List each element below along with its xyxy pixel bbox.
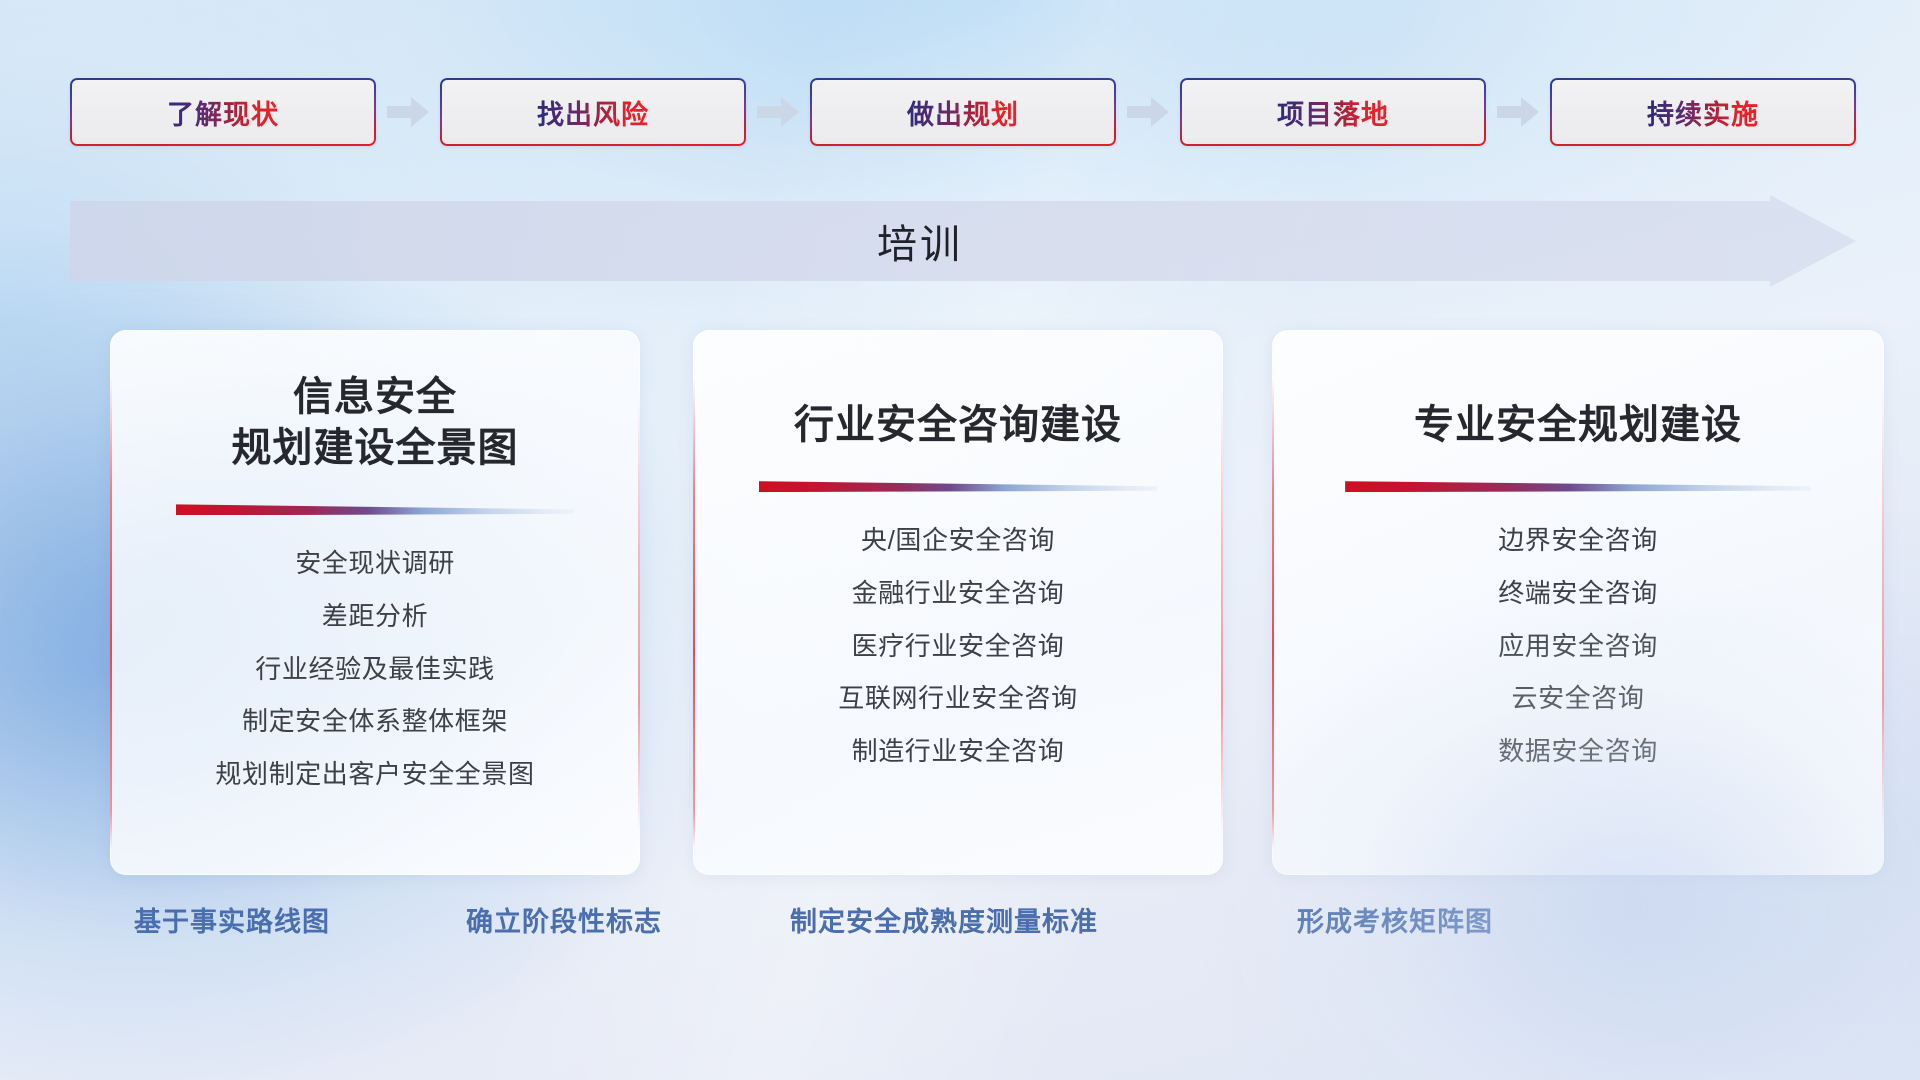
process-step-row: 了解现状 找出风险 做出规划 项目落地 <box>70 78 1856 146</box>
step-label-4: 项目落地 <box>1277 93 1389 132</box>
list-item: 边界安全咨询 <box>1498 522 1658 560</box>
list-item: 数据安全咨询 <box>1498 733 1658 771</box>
list-item: 制造行业安全咨询 <box>852 733 1065 771</box>
card-list-3: 边界安全咨询 终端安全咨询 应用安全咨询 云安全咨询 数据安全咨询 <box>1294 522 1862 770</box>
card-slot-2: 行业安全咨询建设 央/国企安全咨询 金融行业安全咨询 医疗行业安全咨询 互联网行… <box>693 330 1223 875</box>
slide-canvas: 了解现状 找出风险 做出规划 项目落地 <box>0 0 1920 1080</box>
training-banner: 培训 <box>70 195 1856 287</box>
card-slot-1: 信息安全 规划建设全景图 安全现状调研 差距分析 行业经验及最佳实践 制定安全体… <box>110 330 640 875</box>
list-item: 终端安全咨询 <box>1498 575 1658 613</box>
caption-2: 确立阶段性标志 <box>466 900 662 939</box>
step-arrow-icon-1 <box>376 97 440 127</box>
step-chip-2[interactable]: 找出风险 <box>440 78 746 146</box>
card-divider-3 <box>1345 481 1811 492</box>
caption-3: 制定安全成熟度测量标准 <box>790 900 1098 939</box>
step-chip-5[interactable]: 持续实施 <box>1550 78 1856 146</box>
card-row: 信息安全 规划建设全景图 安全现状调研 差距分析 行业经验及最佳实践 制定安全体… <box>0 330 1920 875</box>
list-item: 央/国企安全咨询 <box>861 522 1055 560</box>
step-chip-3[interactable]: 做出规划 <box>810 78 1116 146</box>
step-label-1: 了解现状 <box>167 93 279 132</box>
list-item: 金融行业安全咨询 <box>852 575 1065 613</box>
card-slot-3: 专业安全规划建设 边界安全咨询 终端安全咨询 应用安全咨询 云安全咨询 数据安全… <box>1272 330 1884 875</box>
card-divider-1 <box>176 504 575 515</box>
step-chip-1[interactable]: 了解现状 <box>70 78 376 146</box>
step-label-3: 做出规划 <box>907 93 1019 132</box>
card-title-2: 行业安全咨询建设 <box>794 400 1122 451</box>
step-label-5: 持续实施 <box>1647 93 1759 132</box>
list-item: 应用安全咨询 <box>1498 628 1658 666</box>
list-item: 制定安全体系整体框架 <box>242 703 508 741</box>
caption-1: 基于事实路线图 <box>134 900 330 939</box>
card-list-2: 央/国企安全咨询 金融行业安全咨询 医疗行业安全咨询 互联网行业安全咨询 制造行… <box>715 522 1201 770</box>
card-divider-2 <box>759 481 1158 492</box>
info-card-2[interactable]: 行业安全咨询建设 央/国企安全咨询 金融行业安全咨询 医疗行业安全咨询 互联网行… <box>693 330 1223 875</box>
info-card-3[interactable]: 专业安全规划建设 边界安全咨询 终端安全咨询 应用安全咨询 云安全咨询 数据安全… <box>1272 330 1884 875</box>
step-label-2: 找出风险 <box>537 93 649 132</box>
list-item: 互联网行业安全咨询 <box>838 680 1077 718</box>
caption-4: 形成考核矩阵图 <box>1297 900 1493 939</box>
footer-captions: 基于事实路线图 确立阶段性标志 制定安全成熟度测量标准 形成考核矩阵图 <box>0 900 1920 960</box>
step-arrow-icon-4 <box>1486 97 1550 127</box>
list-item: 云安全咨询 <box>1511 680 1644 718</box>
step-arrow-icon-2 <box>746 97 810 127</box>
card-title-3: 专业安全规划建设 <box>1414 400 1742 451</box>
banner-title: 培训 <box>70 195 1856 287</box>
list-item: 差距分析 <box>322 598 428 636</box>
list-item: 规划制定出客户安全全景图 <box>215 756 534 794</box>
info-card-1[interactable]: 信息安全 规划建设全景图 安全现状调研 差距分析 行业经验及最佳实践 制定安全体… <box>110 330 640 875</box>
card-title-1: 信息安全 规划建设全景图 <box>232 372 519 474</box>
step-chip-4[interactable]: 项目落地 <box>1180 78 1486 146</box>
card-list-1: 安全现状调研 差距分析 行业经验及最佳实践 制定安全体系整体框架 规划制定出客户… <box>132 545 618 793</box>
step-arrow-icon-3 <box>1116 97 1180 127</box>
list-item: 医疗行业安全咨询 <box>852 628 1065 666</box>
list-item: 行业经验及最佳实践 <box>255 651 494 689</box>
list-item: 安全现状调研 <box>295 545 455 583</box>
